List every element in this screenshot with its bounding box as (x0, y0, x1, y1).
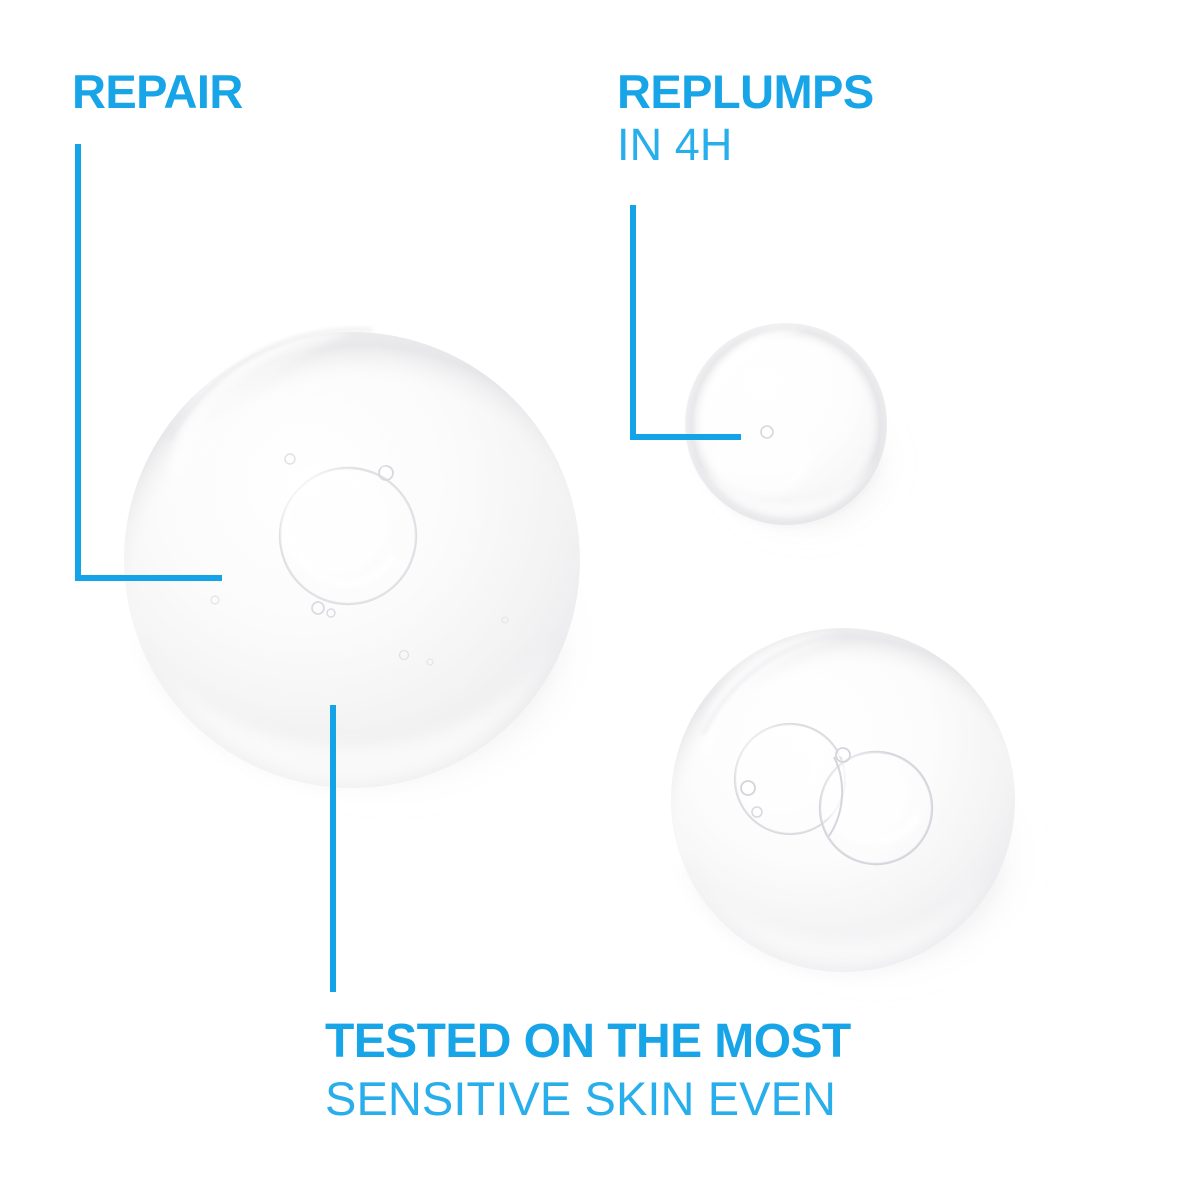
callout-replumps: REPLUMPS IN 4H (617, 68, 874, 167)
callout-tested: TESTED ON THE MOST SENSITIVE SKIN EVEN (325, 1018, 851, 1122)
callout-repair-line1: REPAIR (72, 68, 243, 115)
droplet-large-repair (124, 329, 602, 808)
callout-repair: REPAIR (72, 68, 243, 115)
droplet-small-replumps (685, 323, 902, 542)
droplet-medium-tested (671, 628, 1040, 988)
callout-replumps-line2: IN 4H (617, 122, 874, 167)
callout-tested-line2: SENSITIVE SKIN EVEN (325, 1075, 851, 1122)
callout-tested-line1: TESTED ON THE MOST (325, 1018, 851, 1066)
infographic-canvas: REPAIR REPLUMPS IN 4H TESTED ON THE MOST… (0, 0, 1200, 1200)
callout-replumps-line1: REPLUMPS (617, 68, 874, 115)
